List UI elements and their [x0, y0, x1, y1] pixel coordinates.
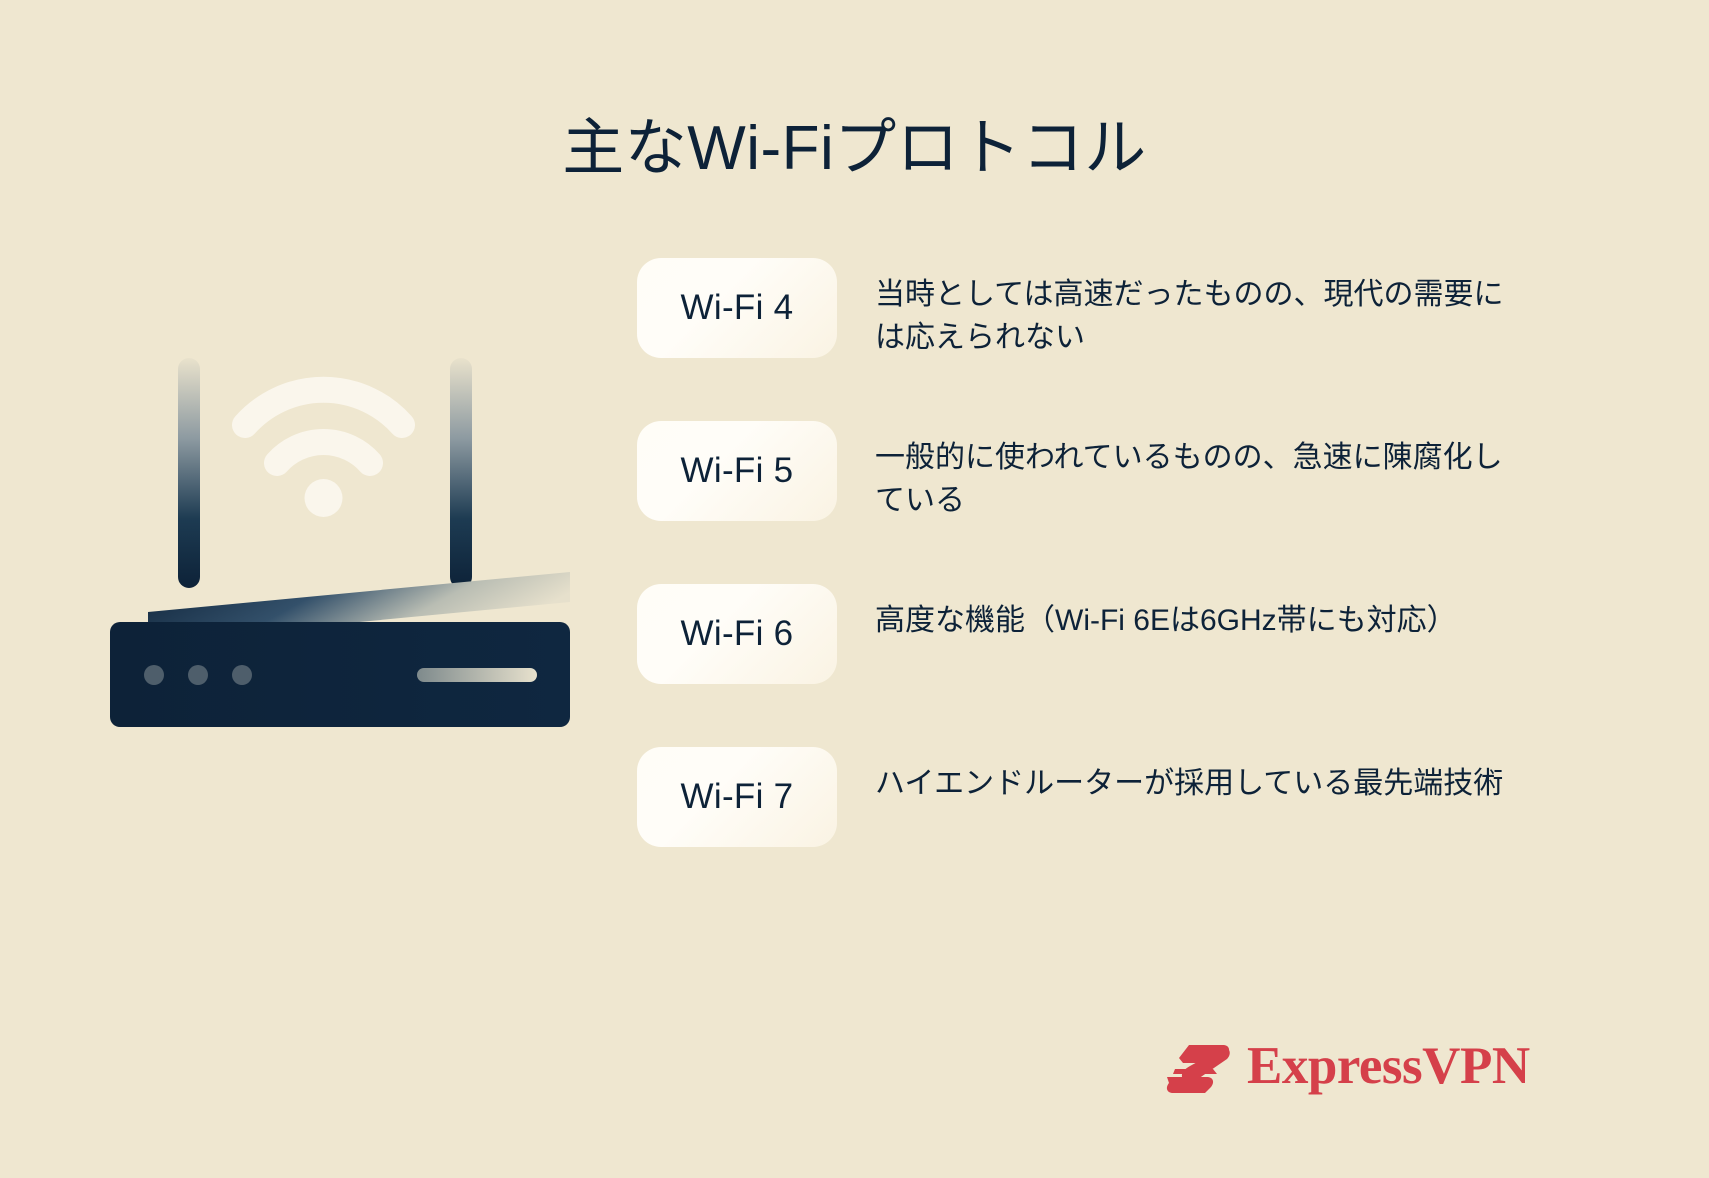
router-led-indicators: [144, 665, 252, 685]
wifi-router-illustration: [110, 350, 590, 750]
badge-wifi7: Wi-Fi 7: [637, 747, 837, 847]
router-antenna-right: [450, 358, 472, 588]
router-antenna-left: [178, 358, 200, 588]
badge-wifi4: Wi-Fi 4: [637, 258, 837, 358]
router-vent-slot: [417, 668, 537, 682]
wifi-signal-icon: [245, 390, 402, 517]
expressvpn-mark-icon: [1163, 1031, 1233, 1101]
page-title: 主なWi-Fiプロトコル: [0, 112, 1709, 186]
expressvpn-wordmark: ExpressVPN: [1247, 1040, 1530, 1093]
description-wifi7: ハイエンドルーターが採用している最先端技術: [875, 747, 1515, 806]
badge-wifi5: Wi-Fi 5: [637, 421, 837, 521]
expressvpn-logo: ExpressVPN: [1163, 1031, 1530, 1101]
description-wifi4: 当時としては高速だったものの、現代の需要には応えられない: [875, 258, 1515, 359]
badge-wifi6: Wi-Fi 6: [637, 584, 837, 684]
description-wifi5: 一般的に使われているものの、急速に陳腐化している: [875, 421, 1515, 522]
router-svg: [110, 350, 590, 750]
protocol-row-wifi6: Wi-Fi 6 高度な機能（Wi-Fi 6Eは6GHz帯にも対応）: [637, 584, 1517, 688]
protocol-list: Wi-Fi 4 当時としては高速だったものの、現代の需要には応えられない Wi-…: [637, 258, 1517, 851]
description-wifi6: 高度な機能（Wi-Fi 6Eは6GHz帯にも対応）: [875, 584, 1515, 643]
protocol-row-wifi7: Wi-Fi 7 ハイエンドルーターが採用している最先端技術: [637, 747, 1517, 851]
protocol-row-wifi4: Wi-Fi 4 当時としては高速だったものの、現代の需要には応えられない: [637, 258, 1517, 362]
protocol-row-wifi5: Wi-Fi 5 一般的に使われているものの、急速に陳腐化している: [637, 421, 1517, 525]
